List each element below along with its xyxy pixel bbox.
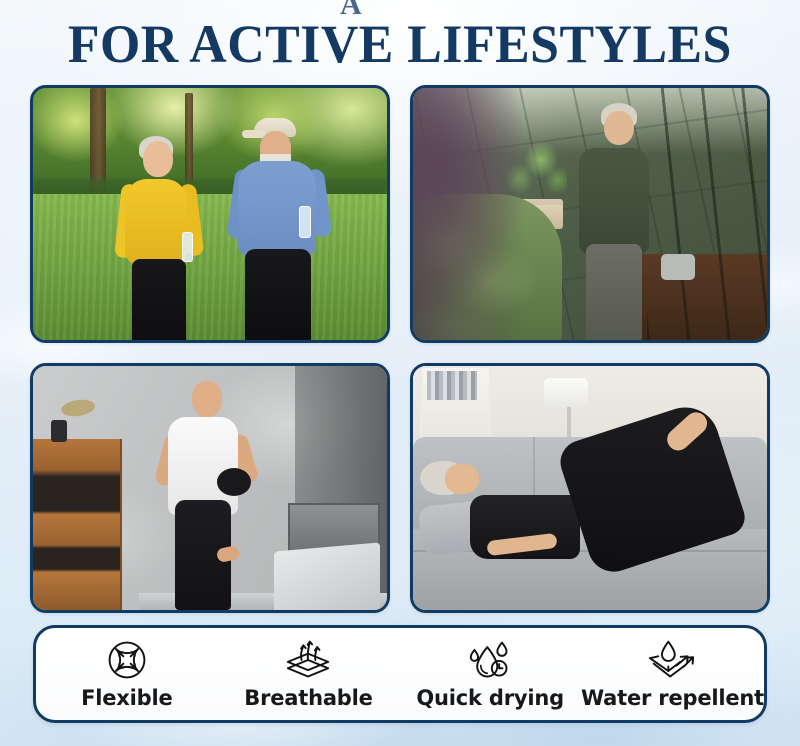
park-grass [33, 194, 387, 340]
greenhouse-frame-right [647, 88, 767, 340]
page-title: FOR ACTIVE LIFESTYLES [68, 17, 732, 82]
gardener-trousers [586, 244, 642, 343]
watering-can [661, 254, 695, 280]
feature-label: Flexible [81, 686, 172, 710]
feature-benefits-bar: Flexible Breathable [33, 625, 767, 723]
water-bottle [182, 232, 193, 262]
man-head [192, 381, 222, 417]
laptop [274, 542, 380, 613]
woman-yellow-top [125, 179, 187, 265]
photo-card-stretching[interactable] [30, 363, 390, 613]
gardener-jacket [579, 148, 649, 254]
woman-bare-feet [662, 407, 711, 454]
vase [51, 420, 67, 442]
photo-gardening [413, 88, 767, 340]
purple-foreground-haze [410, 88, 540, 340]
feature-item-flexible[interactable]: Flexible [36, 628, 218, 720]
wooden-shelf-unit [33, 439, 122, 610]
flexible-icon [105, 638, 149, 682]
lifestyle-photo-grid [30, 85, 770, 613]
water-repellent-icon [646, 638, 698, 682]
feature-item-quick-drying[interactable]: Quick drying [399, 628, 581, 720]
photo-stretching [33, 366, 387, 610]
water-bottle [299, 206, 311, 238]
breathable-icon [283, 638, 333, 682]
feature-label: Water repellent [581, 686, 764, 710]
feature-item-water-repellent[interactable]: Water repellent [581, 628, 764, 720]
photo-card-relaxing-sofa[interactable] [410, 363, 770, 613]
photo-card-walking-couple[interactable] [30, 85, 390, 343]
page-header: A FOR ACTIVE LIFESTYLES [0, 0, 800, 82]
feature-item-breathable[interactable]: Breathable [218, 628, 400, 720]
man-black-pants [245, 249, 311, 343]
product-feature-page: A FOR ACTIVE LIFESTYLES [0, 0, 800, 746]
woman-head [445, 464, 479, 494]
feature-label: Breathable [244, 686, 372, 710]
photo-walking-couple [33, 88, 387, 340]
gardener-head [604, 111, 634, 145]
floor-lamp-shade [544, 378, 588, 412]
books [427, 371, 477, 400]
tree-trunk [185, 93, 193, 189]
photo-relaxing-sofa [413, 366, 767, 610]
quick-drying-icon [467, 638, 513, 682]
photo-card-gardening[interactable] [410, 85, 770, 343]
woman-black-pants [132, 259, 186, 343]
feature-label: Quick drying [416, 686, 564, 710]
woman-head [143, 141, 173, 177]
